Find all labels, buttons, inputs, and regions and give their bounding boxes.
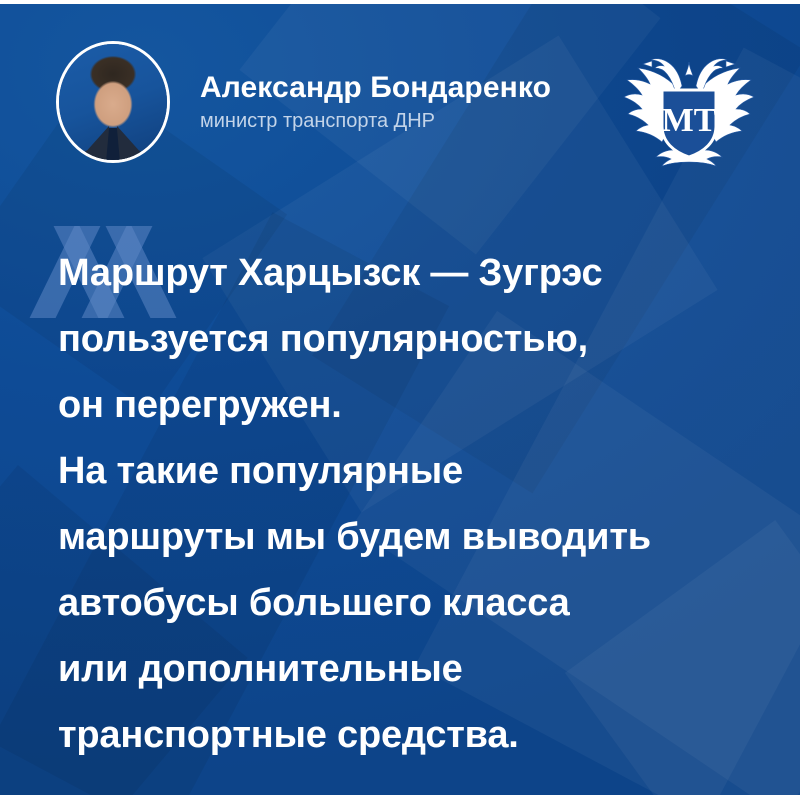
speaker-name: Александр Бондаренко (200, 71, 551, 106)
speaker-name-block: Александр Бондаренко министр транспорта … (200, 71, 551, 134)
quote-line: он перегружен. (58, 372, 768, 438)
avatar (56, 41, 170, 163)
speaker-role: министр транспорта ДНР (200, 109, 551, 133)
quote-line: маршруты мы будем выводить (58, 504, 768, 570)
double-headed-eagle-emblem-icon: МТ (622, 46, 756, 170)
quote-line: пользуется популярностью, (58, 306, 768, 372)
quote-line: На такие популярные (58, 438, 768, 504)
emblem-shield-text: МТ (662, 102, 717, 139)
quote-line: или дополнительные (58, 636, 768, 702)
quote-line: Маршрут Харцызск — Зугрэс (58, 240, 768, 306)
quote-line: автобусы большего класса (58, 570, 768, 636)
quote-text: Маршрут Харцызск — Зугрэс пользуется поп… (58, 240, 768, 768)
quote-card: Александр Бондаренко министр транспорта … (0, 0, 800, 800)
quote-line: транспортные средства. (58, 702, 768, 768)
